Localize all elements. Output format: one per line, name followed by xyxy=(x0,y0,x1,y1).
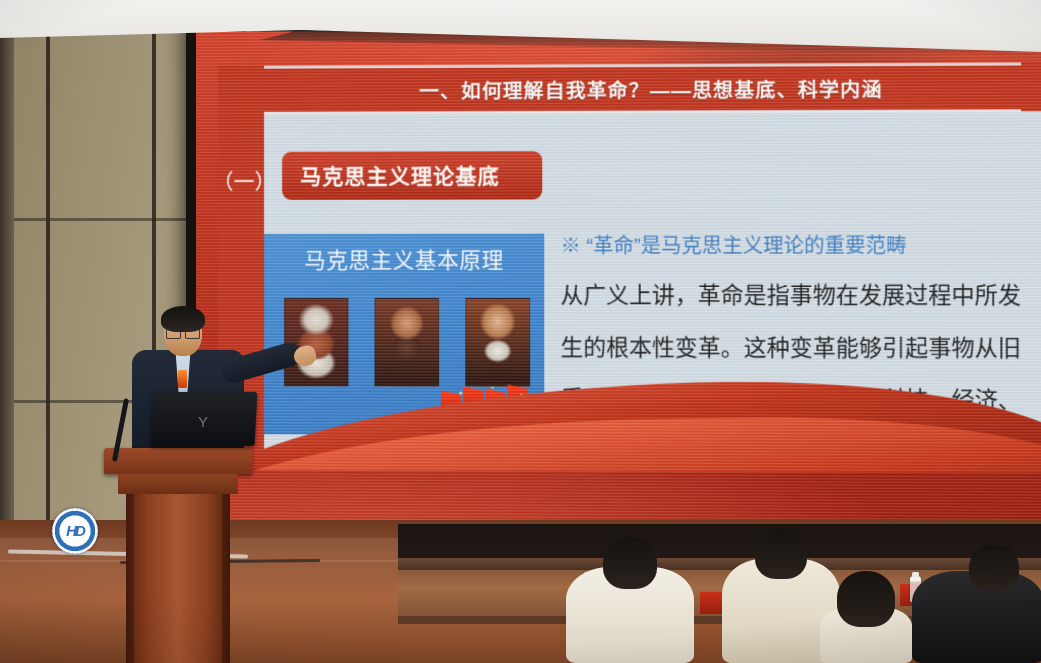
section-heading-text: 马克思主义理论基底 xyxy=(300,160,500,191)
image-panel-caption: 马克思主义基本原理 xyxy=(304,244,504,275)
slide-content-area: 一、如何理解自我革命？——思想基底、科学内涵 （一） 马克思主义理论基底 马克思… xyxy=(218,62,1041,473)
laptop-logo: Y xyxy=(198,414,208,431)
audience-person-1 xyxy=(566,539,694,663)
speaker-lapel-badge xyxy=(178,370,187,388)
body-line-1: 从广义上讲，革命是指事物在发展过程中所发 xyxy=(560,285,1039,308)
portrait-engels xyxy=(375,298,440,386)
speaker-glasses xyxy=(166,328,200,337)
section-heading-pill: 马克思主义理论基底 xyxy=(282,151,542,200)
section-number: （一） xyxy=(224,154,264,208)
audience-person-4 xyxy=(912,551,1041,663)
body-line-2: 生的根本性变革。这种变革能够引起事物从旧 xyxy=(560,337,1039,360)
lecture-hall-photo: 一、如何理解自我革命？——思想基底、科学内涵 （一） 马克思主义理论基底 马克思… xyxy=(0,0,1041,663)
presentation-slide: 一、如何理解自我革命？——思想基底、科学内涵 （一） 马克思主义理论基底 马克思… xyxy=(196,28,1041,535)
audience-person-3 xyxy=(820,577,912,663)
body-highlight-line: ※ “革命”是马克思主义理论的重要范畴 xyxy=(560,229,1039,259)
speaker-pointing-arm xyxy=(219,340,304,386)
wall-dark-column xyxy=(0,22,14,542)
slide-title: 一、如何理解自我革命？——思想基底、科学内涵 xyxy=(264,62,1041,113)
laptop: Y xyxy=(152,392,256,452)
slide-title-text: 一、如何理解自我革命？——思想基底、科学内涵 xyxy=(419,73,883,104)
slide-bottom-ribbon xyxy=(218,374,1041,473)
audience-row: HUB xyxy=(0,524,1041,663)
